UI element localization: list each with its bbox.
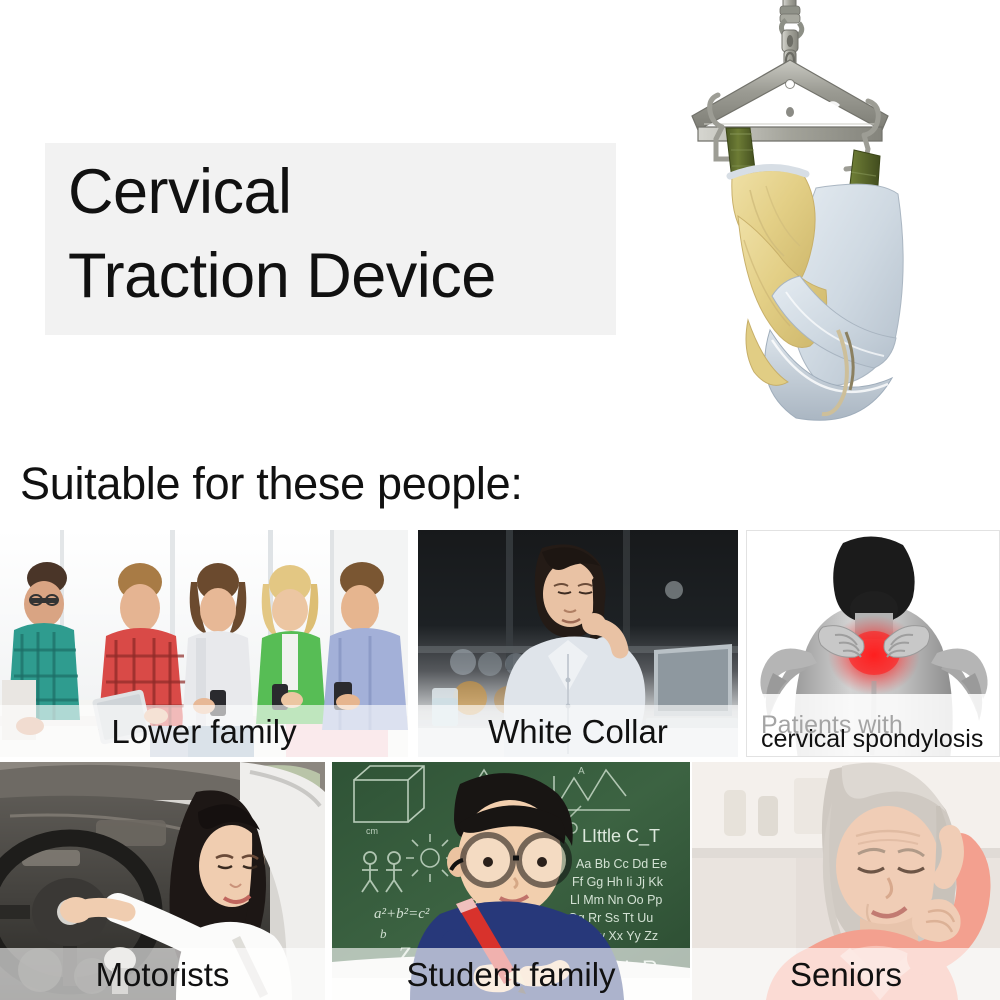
panel-caption: White Collar — [488, 715, 668, 748]
page-title: Cervical Traction Device — [68, 150, 668, 318]
infographic-page: Cervical Traction Device Suitable for th… — [0, 0, 1000, 1000]
svg-text:Ll Mm Nn Oo Pp: Ll Mm Nn Oo Pp — [570, 893, 662, 907]
cervical-traction-device-illustration — [620, 0, 1000, 515]
panel-caption: Student family — [406, 958, 615, 991]
panel-lower-family[interactable]: Lower family — [0, 530, 408, 757]
product-photo — [620, 0, 1000, 515]
panel-caption: Seniors — [790, 958, 902, 991]
svg-text:b: b — [380, 926, 387, 941]
svg-text:Aa Bb Cc Dd Ee: Aa Bb Cc Dd Ee — [576, 857, 667, 871]
panel-seniors[interactable]: Seniors — [692, 762, 1000, 1000]
person-4 — [256, 565, 326, 724]
panel-white-collar[interactable]: White Collar — [418, 530, 738, 757]
chalk-heading: LIttle C_T — [582, 826, 660, 847]
caption-band-line2: cervical spondylosis — [747, 694, 999, 756]
caption-band: Seniors — [692, 948, 1000, 1000]
svg-text:a²+b²=c²: a²+b²=c² — [374, 906, 430, 922]
caption-band: Motorists — [0, 948, 325, 1000]
caption-band: White Collar — [418, 705, 738, 757]
caption-band: Lower family — [0, 705, 408, 757]
caption-band: Student family — [332, 948, 690, 1000]
panel-caption: Motorists — [96, 958, 230, 991]
chain-carabiner-icon — [780, 0, 802, 52]
svg-text:A: A — [578, 766, 585, 777]
svg-text:Ff Gg Hh Ii Jj Kk: Ff Gg Hh Ii Jj Kk — [572, 875, 664, 889]
svg-text:cm: cm — [366, 826, 378, 836]
panel-caption: Lower family — [111, 715, 296, 748]
panel-student-family[interactable]: cm 7x2= — [332, 762, 690, 1000]
panel-cervical-spondylosis[interactable]: Patients with cervical spondylosis — [746, 530, 1000, 757]
panel-motorists[interactable]: Motorists — [0, 762, 325, 1000]
panel-caption-line2: cervical spondylosis — [761, 725, 983, 753]
section-heading: Suitable for these people: — [20, 458, 523, 510]
